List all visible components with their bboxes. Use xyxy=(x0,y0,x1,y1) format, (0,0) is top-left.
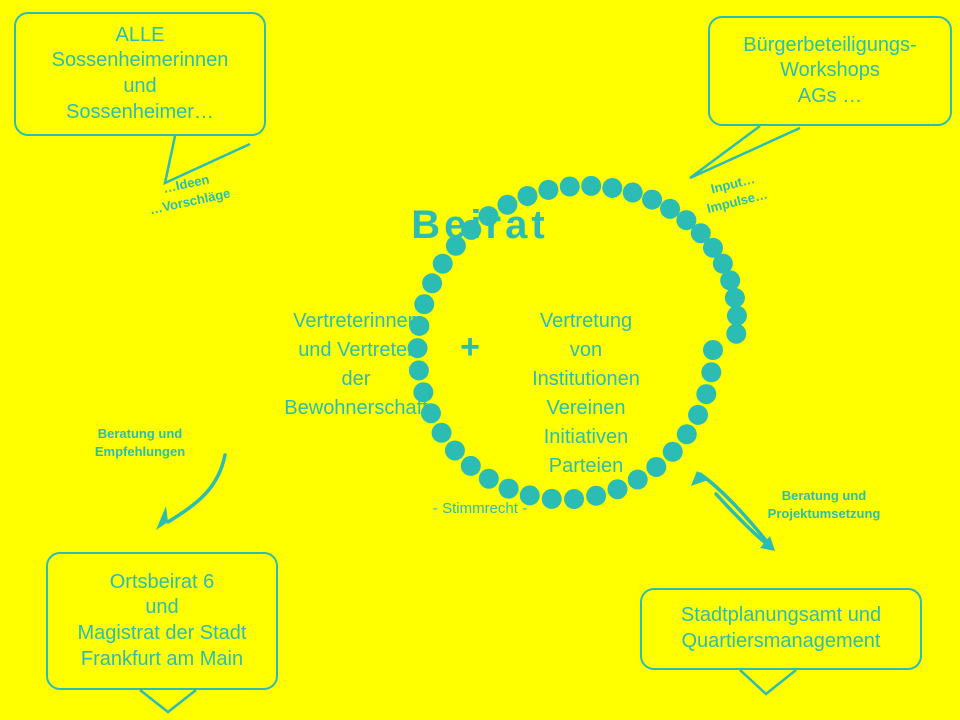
callout-ortsbeirat-magistrat[interactable]: Ortsbeirat 6 und Magistrat der Stadt Fra… xyxy=(46,552,278,690)
label-ideen-vorschlaege: …Ideen …Vorschläge xyxy=(118,161,258,224)
callout-stadtplanungsamt-quartiersmanagement[interactable]: Stadtplanungsamt und Quartiersmanagement xyxy=(640,588,922,670)
arrow-left-down xyxy=(168,455,225,522)
beirat-members-bewohnerschaft: Vertreterinnen und Vertreter der Bewohne… xyxy=(268,307,444,423)
diagram-canvas: ALLE Sossenheimerinnen und Sossenheimer…… xyxy=(0,0,960,720)
label-beratung-projektumsetzung: Beratung und Projektumsetzung xyxy=(742,487,906,522)
callout-alle-sossenheimer[interactable]: ALLE Sossenheimerinnen und Sossenheimer… xyxy=(14,12,266,136)
stimmrecht-footnote: - Stimmrecht - xyxy=(380,500,580,517)
callout-buergerbeteiligungs-workshops[interactable]: Bürgerbeteiligungs- Workshops AGs … xyxy=(708,16,952,126)
beirat-members-institutionen: Vertretung von Institutionen Vereinen In… xyxy=(498,307,674,481)
label-beratung-empfehlungen: Beratung und Empfehlungen xyxy=(72,425,208,460)
label-input-impulse: Input… Impulse… xyxy=(677,162,792,223)
plus-icon: + xyxy=(448,328,492,367)
beirat-title: Beirat xyxy=(330,203,630,248)
